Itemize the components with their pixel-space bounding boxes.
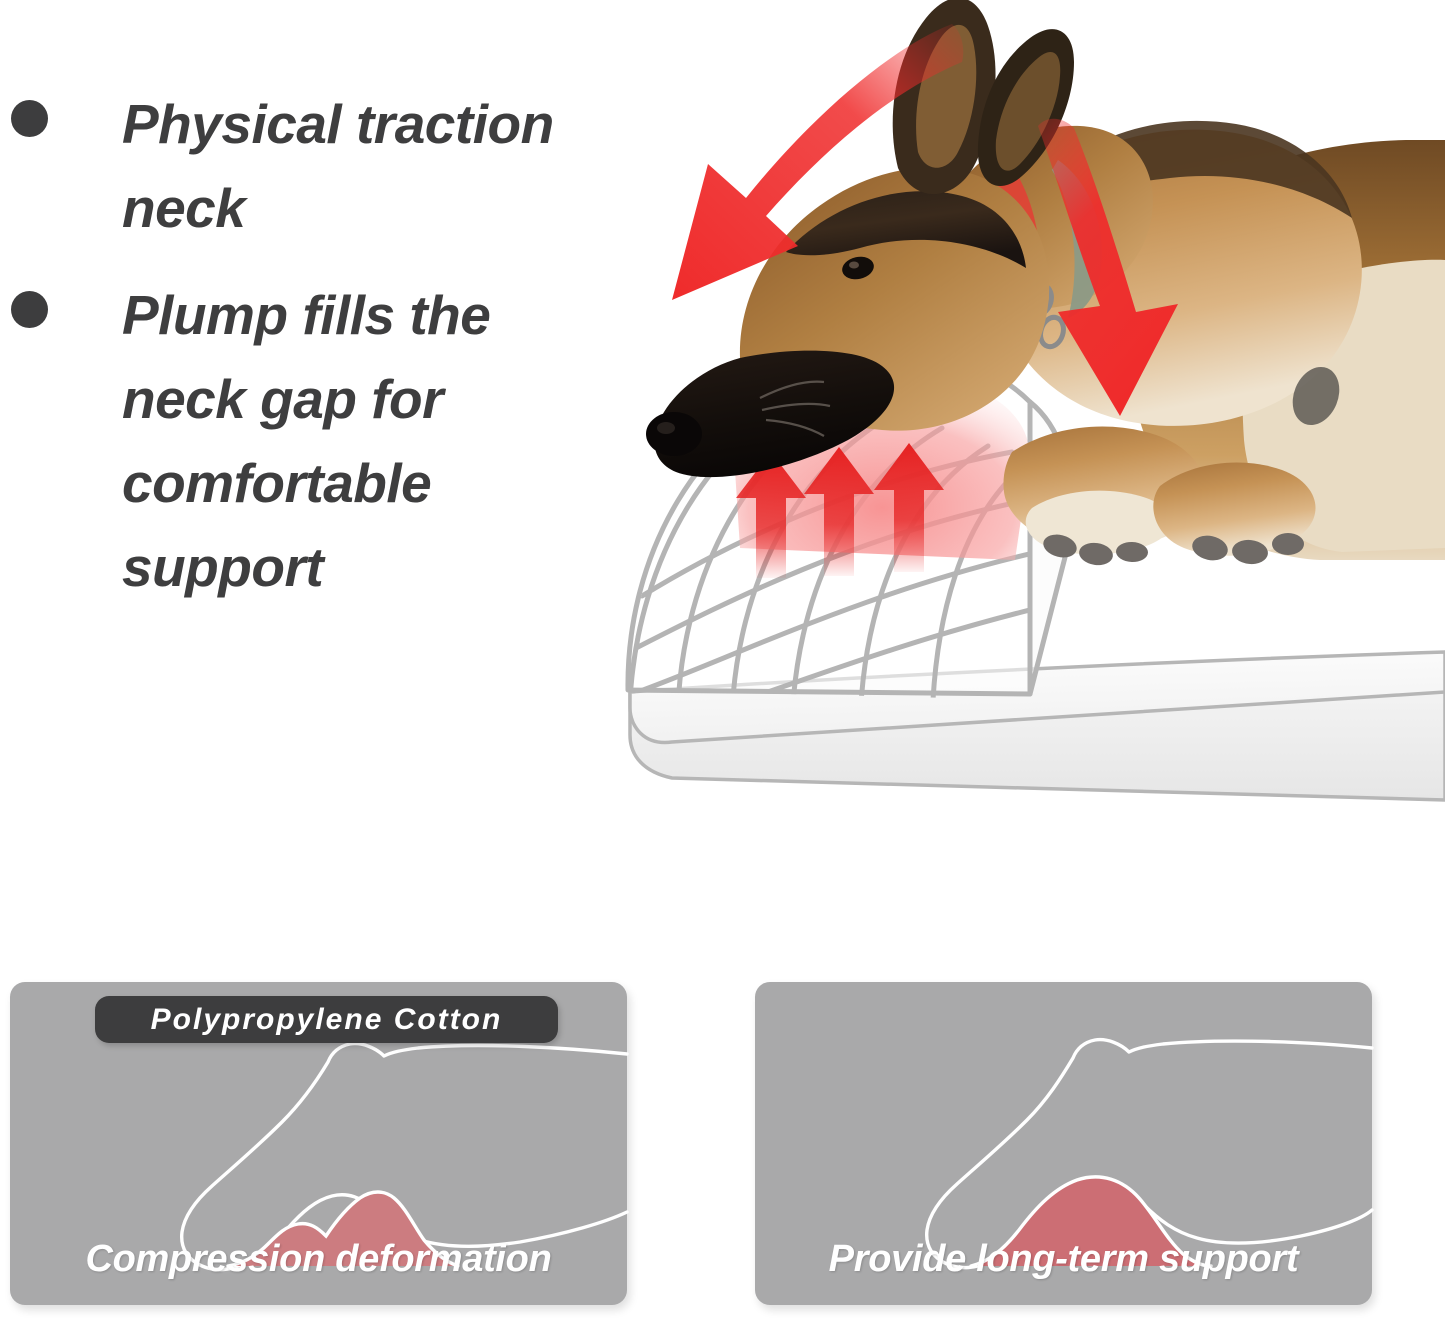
comparison-panel-sponge: Sponge Provide long-term support (755, 982, 1372, 1305)
bullet-text: Physical traction neck (122, 82, 554, 250)
bullet-dot-icon (11, 100, 48, 137)
bullet-text: Plump fills the neck gap for comfortable… (122, 273, 490, 609)
hero-illustration (560, 0, 1445, 900)
panel-label-pill: Polypropylene Cotton (95, 996, 558, 1043)
list-item: Physical traction neck (11, 82, 554, 250)
comparison-panel-polypropylene-cotton: Polypropylene Cotton Compression deforma… (10, 982, 627, 1305)
list-item: Plump fills the neck gap for comfortable… (11, 273, 490, 609)
material-comparison-section: Polypropylene Cotton Compression deforma… (0, 930, 1445, 1332)
hero-scene-svg (560, 0, 1445, 900)
panel-caption: Compression deformation (10, 1238, 627, 1281)
bullet-dot-icon (11, 291, 48, 328)
panel-caption: Provide long-term support (755, 1238, 1372, 1281)
infographic-canvas: Physical traction neck Plump fills the n… (0, 0, 1445, 1332)
